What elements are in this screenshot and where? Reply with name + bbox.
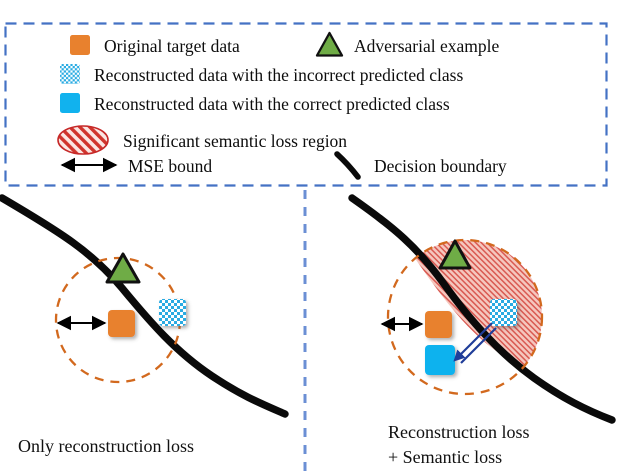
panel-right-caption-line-1: Reconstruction loss	[388, 422, 530, 442]
reconstructed-correct-marker	[425, 345, 455, 375]
legend-label-original-target: Original target data	[104, 36, 240, 56]
decision-boundary-stroke-icon	[337, 154, 358, 177]
legend-item-original-target: Original target data	[70, 35, 240, 56]
reconstructed-incorrect-marker	[490, 299, 517, 326]
legend-label-decision-boundary: Decision boundary	[374, 156, 507, 176]
orange-square-icon	[70, 35, 90, 55]
hatched-ellipse-icon	[58, 126, 108, 154]
legend-label-adversarial-example: Adversarial example	[354, 36, 500, 56]
legend-label-reconstructed-correct: Reconstructed data with the correct pred…	[94, 94, 450, 114]
panel-left: Only reconstruction loss	[2, 198, 285, 456]
figure-canvas: Original target data Adversarial example…	[0, 0, 640, 472]
legend-item-reconstructed-correct: Reconstructed data with the correct pred…	[60, 93, 450, 114]
panel-left-caption-line-1: Only reconstruction loss	[18, 436, 194, 456]
legend-item-decision-boundary: Decision boundary	[337, 154, 507, 177]
solid-blue-square-icon	[60, 93, 80, 113]
original-target-marker	[425, 311, 452, 338]
legend-item-reconstructed-incorrect: Reconstructed data with the incorrect pr…	[60, 64, 463, 85]
checkered-blue-square-icon	[60, 64, 80, 84]
legend-item-semantic-region: Significant semantic loss region	[58, 126, 347, 154]
panel-right: Reconstruction loss + Semantic loss	[352, 198, 612, 467]
adversarial-example-marker	[107, 254, 139, 282]
reconstructed-incorrect-marker	[159, 299, 186, 326]
legend-item-mse-bound: MSE bound	[62, 156, 212, 176]
legend-label-reconstructed-incorrect: Reconstructed data with the incorrect pr…	[94, 65, 463, 85]
decision-boundary-curve	[2, 198, 285, 414]
figure-root: Original target data Adversarial example…	[0, 0, 640, 472]
legend-item-adversarial-example: Adversarial example	[317, 33, 500, 56]
original-target-marker	[108, 310, 135, 337]
panel-right-caption-line-2: + Semantic loss	[388, 447, 502, 467]
green-triangle-icon	[317, 33, 342, 56]
legend-label-mse-bound: MSE bound	[128, 156, 212, 176]
legend-label-semantic-region: Significant semantic loss region	[123, 131, 347, 151]
